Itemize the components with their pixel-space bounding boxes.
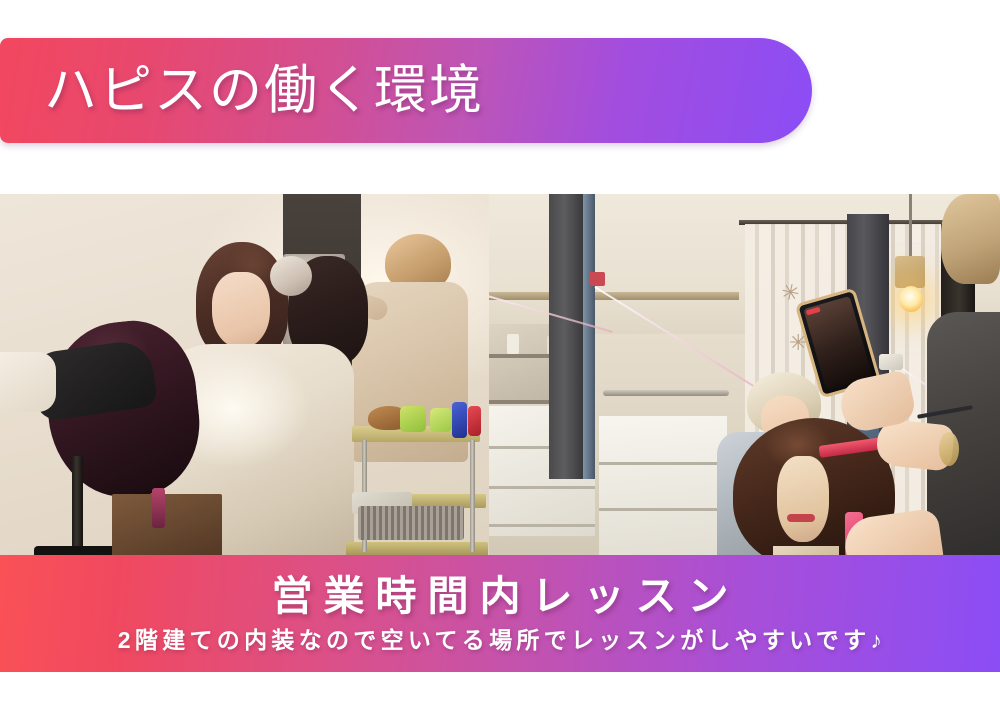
- wooden-side-shelf: [112, 494, 222, 555]
- tool-tray: [358, 506, 464, 540]
- mannequin-stand-base: [34, 546, 120, 555]
- mannequin-face: [777, 456, 829, 542]
- mannequin-lips: [787, 514, 815, 522]
- caption-subtitle: 2階建ての内装なので空いてる場所でレッスンがしやすいです♪: [114, 627, 886, 655]
- product-bottle-blue: [452, 402, 467, 438]
- floor-panel-line-1: [599, 462, 727, 465]
- trainee-hair-clip: [270, 256, 312, 296]
- mannequin-torso: [773, 546, 839, 555]
- pillar-left-edge: [583, 194, 595, 479]
- product-bottle-red: [468, 406, 481, 436]
- cabinet-divider-2: [489, 486, 595, 489]
- floor-panel-line-2: [599, 508, 727, 511]
- sleeve-cuff: [0, 352, 56, 412]
- caption-title: 営業時間内レッスン: [261, 572, 740, 620]
- product-bottle-green-2: [430, 408, 452, 432]
- trolley-leg-right: [470, 440, 475, 552]
- floor-panel: [599, 416, 727, 555]
- pendant-light-socket: [895, 256, 925, 288]
- light-bulb-icon: [899, 286, 923, 312]
- wire-anchor-white: [879, 354, 903, 370]
- metal-bar-rail: [603, 390, 729, 396]
- page-title: ハピスの働く環境: [44, 64, 484, 117]
- caption-bar: 営業時間内レッスン 2階建ての内装なので空いてる場所でレッスンがしやすいです♪: [0, 555, 1000, 672]
- shelf-bottle-1: [507, 334, 519, 354]
- observer-hair: [941, 194, 1000, 284]
- shelf-tool: [152, 488, 165, 528]
- structural-pillar-left: [549, 194, 583, 479]
- slide-canvas: ハピスの働く環境: [0, 0, 1000, 707]
- trolley-bottom-shelf: [346, 542, 488, 555]
- header-banner: ハピスの働く環境: [0, 38, 812, 143]
- wire-anchor-red: [589, 272, 605, 286]
- trainee-face: [212, 272, 270, 348]
- photo-strip: ✳ ✳: [0, 194, 1000, 555]
- wrist-bracelet: [939, 432, 959, 466]
- photo-salon-training-left: [0, 194, 489, 555]
- cabinet-divider-3: [489, 524, 595, 527]
- product-bottle-green: [400, 406, 426, 432]
- photo-salon-lesson-right: ✳ ✳: [489, 194, 1000, 555]
- pendant-light-cord: [909, 194, 912, 258]
- mannequin-stand-pole: [72, 456, 83, 555]
